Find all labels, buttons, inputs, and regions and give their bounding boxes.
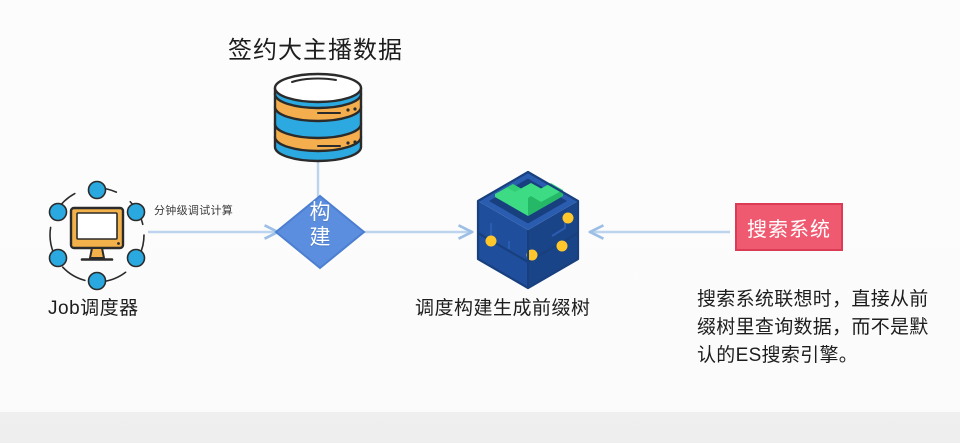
description-text: 搜索系统联想时，直接从前缀树里查询数据，而不是默认的ES搜索引擎。: [697, 286, 937, 370]
isometric-cube-box-icon: [478, 172, 578, 288]
search-system-box[interactable]: 搜索系统: [735, 203, 843, 251]
caption-job-scheduler: Job调度器: [48, 297, 139, 321]
diagram-canvas: 签约大主播数据: [0, 0, 960, 443]
build-diamond-label: 构建: [300, 200, 340, 250]
edge-label-scheduler-to-build: 分钟级调试计算: [154, 202, 233, 218]
monitor-network-icon: [50, 182, 145, 290]
search-system-label: 搜索系统: [747, 213, 831, 242]
caption-prefix-tree-builder: 调度构建生成前缀树: [415, 297, 591, 321]
database-cylinder-icon: [275, 74, 361, 161]
